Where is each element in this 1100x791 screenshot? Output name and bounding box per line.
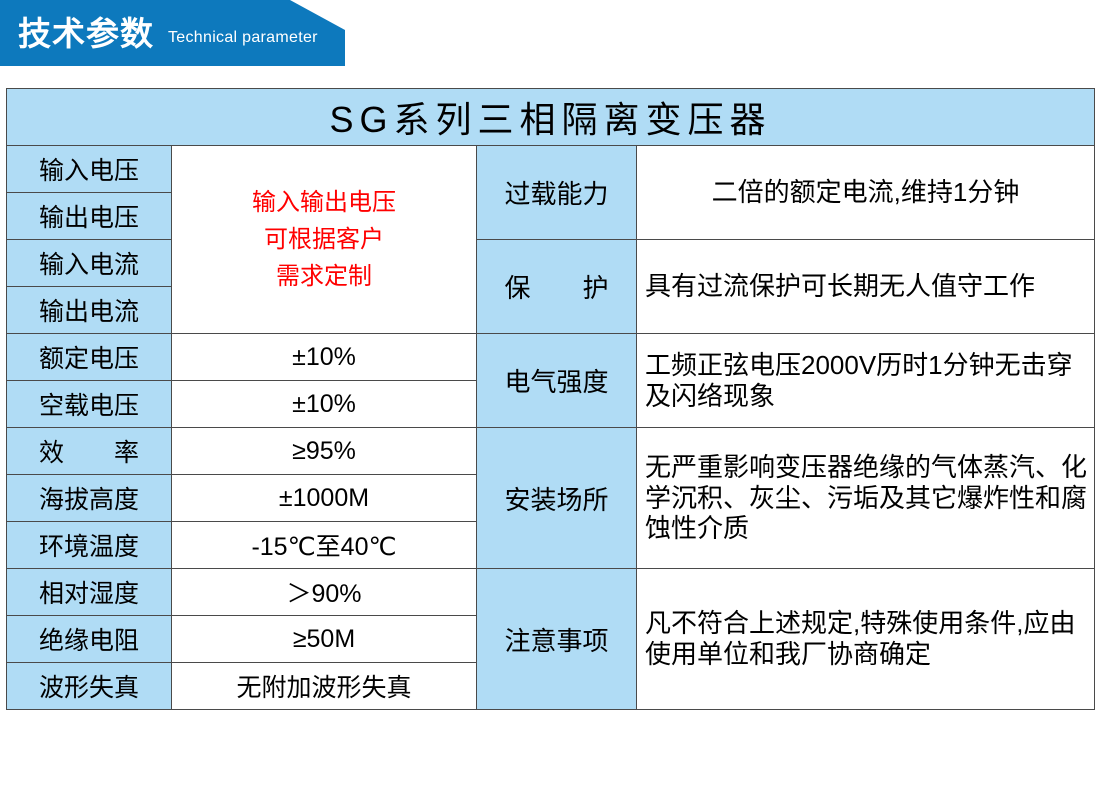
label-efficiency: 效 率	[7, 428, 172, 475]
value-protection: 具有过流保护可长期无人值守工作	[637, 240, 1095, 334]
value-rated-voltage: ±10%	[172, 334, 477, 381]
value-relative-humidity: ＞90%	[172, 569, 477, 616]
page-header-banner: 技术参数 Technical parameter	[0, 0, 1100, 66]
custom-note-line-2: 可根据客户	[172, 221, 476, 258]
value-insulation-resistance: ≥50M	[172, 616, 477, 663]
value-altitude: ±1000M	[172, 475, 477, 522]
custom-note-line-1: 输入输出电压	[172, 184, 476, 221]
value-overload-capacity: 二倍的额定电流,维持1分钟	[637, 146, 1095, 240]
label-overload-capacity: 过载能力	[477, 146, 637, 240]
banner-title-en: Technical parameter	[168, 30, 318, 46]
value-installation-site: 无严重影响变压器绝缘的气体蒸汽、化学沉积、灰尘、污垢及其它爆炸性和腐蚀性介质	[637, 428, 1095, 569]
label-electrical-strength: 电气强度	[477, 334, 637, 428]
custom-note-line-3: 需求定制	[172, 258, 476, 295]
label-input-voltage: 输入电压	[7, 146, 172, 193]
table-row: 效 率 ≥95% 安装场所 无严重影响变压器绝缘的气体蒸汽、化学沉积、灰尘、污垢…	[7, 428, 1095, 475]
label-protection: 保 护	[477, 240, 637, 334]
value-waveform-distortion: 无附加波形失真	[172, 663, 477, 710]
banner-text-group: 技术参数 Technical parameter	[0, 0, 318, 66]
table-title: SG系列三相隔离变压器	[7, 89, 1095, 146]
label-output-voltage: 输出电压	[7, 193, 172, 240]
banner-title-cn: 技术参数	[18, 17, 154, 50]
label-precautions: 注意事项	[477, 569, 637, 710]
table-title-row: SG系列三相隔离变压器	[7, 89, 1095, 146]
label-waveform-distortion: 波形失真	[7, 663, 172, 710]
table-row: 输入电压 输入输出电压 可根据客户 需求定制 过载能力 二倍的额定电流,维持1分…	[7, 146, 1095, 193]
value-ambient-temperature: -15℃至40℃	[172, 522, 477, 569]
value-electrical-strength: 工频正弦电压2000V历时1分钟无击穿及闪络现象	[637, 334, 1095, 428]
table-row: 输入电流 保 护 具有过流保护可长期无人值守工作	[7, 240, 1095, 287]
label-installation-site: 安装场所	[477, 428, 637, 569]
label-no-load-voltage: 空载电压	[7, 381, 172, 428]
technical-parameter-table: SG系列三相隔离变压器 输入电压 输入输出电压 可根据客户 需求定制 过载能力 …	[6, 88, 1095, 710]
table-row: 额定电压 ±10% 电气强度 工频正弦电压2000V历时1分钟无击穿及闪络现象	[7, 334, 1095, 381]
value-no-load-voltage: ±10%	[172, 381, 477, 428]
label-insulation-resistance: 绝缘电阻	[7, 616, 172, 663]
label-input-current: 输入电流	[7, 240, 172, 287]
value-efficiency: ≥95%	[172, 428, 477, 475]
label-rated-voltage: 额定电压	[7, 334, 172, 381]
label-ambient-temperature: 环境温度	[7, 522, 172, 569]
label-output-current: 输出电流	[7, 287, 172, 334]
value-precautions: 凡不符合上述规定,特殊使用条件,应由使用单位和我厂协商确定	[637, 569, 1095, 710]
label-relative-humidity: 相对湿度	[7, 569, 172, 616]
spec-table-container: SG系列三相隔离变压器 输入电压 输入输出电压 可根据客户 需求定制 过载能力 …	[6, 88, 1094, 710]
custom-voltage-note: 输入输出电压 可根据客户 需求定制	[172, 146, 477, 334]
label-altitude: 海拔高度	[7, 475, 172, 522]
table-row: 相对湿度 ＞90% 注意事项 凡不符合上述规定,特殊使用条件,应由使用单位和我厂…	[7, 569, 1095, 616]
